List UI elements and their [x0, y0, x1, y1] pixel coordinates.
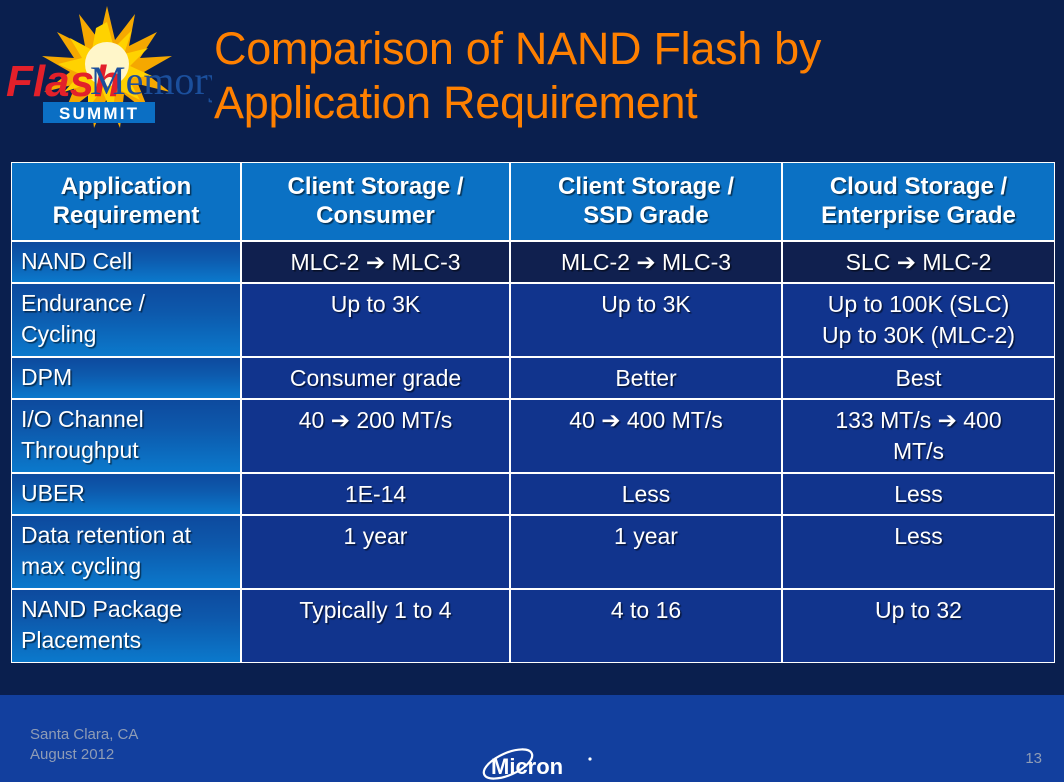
cell-line-1: Less: [787, 479, 1050, 510]
cell-line-1: Up to 32: [787, 595, 1050, 626]
row-label: Endurance / Cycling: [11, 283, 241, 357]
cell-consumer: Up to 3K: [241, 283, 510, 357]
table-header-client-ssd-grade: Client Storage / SSD Grade: [510, 162, 782, 241]
row-label: Data retention at max cycling: [11, 515, 241, 589]
cell-enterprise-grade: Up to 100K (SLC) Up to 30K (MLC-2): [782, 283, 1055, 357]
logo-artwork: Flash Memory SUMMIT: [2, 4, 212, 130]
row-label: NAND Cell: [11, 241, 241, 283]
cell-ssd-grade: Up to 3K: [510, 283, 782, 357]
cell-line-1: Up to 3K: [246, 289, 505, 320]
cell-consumer: 1 year: [241, 515, 510, 589]
row-label: DPM: [11, 357, 241, 399]
row-label-line-1: UBER: [21, 478, 240, 509]
table-header-cloud-enterprise-grade: Cloud Storage / Enterprise Grade: [782, 162, 1055, 241]
row-label-line-2: Cycling: [21, 319, 240, 350]
row-label-line-1: I/O Channel: [21, 404, 240, 435]
cell-enterprise-grade: SLC ➔ MLC-2: [782, 241, 1055, 283]
flash-memory-summit-logo: Flash Memory SUMMIT: [2, 4, 212, 130]
page-title-line-1: Comparison of NAND Flash by: [214, 22, 1034, 76]
micron-logo: Micron: [478, 748, 598, 782]
micron-logo-artwork: Micron: [478, 748, 598, 782]
cell-enterprise-grade: Up to 32: [782, 589, 1055, 663]
row-label-line-1: NAND Cell: [21, 246, 240, 277]
cell-ssd-grade: 40 ➔ 400 MT/s: [510, 399, 782, 473]
cell-line-1: Consumer grade: [246, 363, 505, 394]
footer-location: Santa Clara, CA: [30, 725, 138, 745]
header-line-1: Client Storage /: [517, 172, 775, 201]
header-line-2: Requirement: [18, 201, 234, 230]
cell-line-1: Typically 1 to 4: [246, 595, 505, 626]
cell-ssd-grade: Less: [510, 473, 782, 515]
cell-ssd-grade: 4 to 16: [510, 589, 782, 663]
cell-line-1: MLC-2 ➔ MLC-3: [246, 247, 505, 278]
table-header-row: Application Requirement Client Storage /…: [11, 162, 1055, 241]
table-row-data-retention: Data retention at max cycling 1 year 1 y…: [11, 515, 1055, 589]
cell-line-1: 1E-14: [246, 479, 505, 510]
cell-ssd-grade: 1 year: [510, 515, 782, 589]
table-row-nand-package-placements: NAND Package Placements Typically 1 to 4…: [11, 589, 1055, 663]
cell-line-1: 4 to 16: [515, 595, 777, 626]
table-row-uber: UBER 1E-14 Less Less: [11, 473, 1055, 515]
logo-memory-text: Memory: [90, 58, 212, 103]
page-title-line-2: Application Requirement: [214, 76, 1034, 130]
cell-line-1: Best: [787, 363, 1050, 394]
cell-consumer: 1E-14: [241, 473, 510, 515]
cell-line-2: Up to 30K (MLC-2): [787, 320, 1050, 351]
cell-enterprise-grade: Less: [782, 473, 1055, 515]
footer-location-block: Santa Clara, CA August 2012: [30, 725, 138, 765]
page-number: 13: [1025, 750, 1042, 767]
row-label-line-1: DPM: [21, 362, 240, 393]
row-label-line-1: Data retention at: [21, 520, 240, 551]
page-title: Comparison of NAND Flash by Application …: [214, 22, 1034, 130]
cell-line-1: Up to 100K (SLC): [787, 289, 1050, 320]
row-label-line-2: Placements: [21, 625, 240, 656]
slide-canvas: Flash Memory SUMMIT Comparison of NAND F…: [0, 0, 1064, 782]
cell-enterprise-grade: Less: [782, 515, 1055, 589]
header-line-1: Client Storage /: [248, 172, 503, 201]
cell-line-2: MT/s: [787, 436, 1050, 467]
cell-line-1: Up to 3K: [515, 289, 777, 320]
cell-line-1: Less: [515, 479, 777, 510]
cell-line-1: 40 ➔ 200 MT/s: [246, 405, 505, 436]
cell-consumer: 40 ➔ 200 MT/s: [241, 399, 510, 473]
micron-registered-mark: [588, 757, 591, 760]
cell-line-1: 1 year: [246, 521, 505, 552]
cell-enterprise-grade: Best: [782, 357, 1055, 399]
header-line-2: SSD Grade: [517, 201, 775, 230]
cell-consumer: Typically 1 to 4: [241, 589, 510, 663]
row-label-line-2: max cycling: [21, 551, 240, 582]
cell-enterprise-grade: 133 MT/s ➔ 400 MT/s: [782, 399, 1055, 473]
header-line-2: Consumer: [248, 201, 503, 230]
cell-line-1: Better: [515, 363, 777, 394]
row-label-line-1: Endurance /: [21, 288, 240, 319]
header-line-2: Enterprise Grade: [789, 201, 1048, 230]
cell-ssd-grade: Better: [510, 357, 782, 399]
cell-consumer: MLC-2 ➔ MLC-3: [241, 241, 510, 283]
row-label: I/O Channel Throughput: [11, 399, 241, 473]
row-label-line-1: NAND Package: [21, 594, 240, 625]
row-label: NAND Package Placements: [11, 589, 241, 663]
table-row-endurance-cycling: Endurance / Cycling Up to 3K Up to 3K Up…: [11, 283, 1055, 357]
header-line-1: Application: [18, 172, 234, 201]
table-row-nand-cell: NAND Cell MLC-2 ➔ MLC-3 MLC-2 ➔ MLC-3 SL…: [11, 241, 1055, 283]
cell-ssd-grade: MLC-2 ➔ MLC-3: [510, 241, 782, 283]
row-label: UBER: [11, 473, 241, 515]
table-header-application-requirement: Application Requirement: [11, 162, 241, 241]
header-line-1: Cloud Storage /: [789, 172, 1048, 201]
footer-date: August 2012: [30, 745, 138, 765]
micron-wordmark: Micron: [491, 754, 563, 779]
logo-summit-text: SUMMIT: [59, 104, 139, 123]
table-header-client-consumer: Client Storage / Consumer: [241, 162, 510, 241]
cell-consumer: Consumer grade: [241, 357, 510, 399]
cell-line-1: SLC ➔ MLC-2: [787, 247, 1050, 278]
cell-line-1: 1 year: [515, 521, 777, 552]
row-label-line-2: Throughput: [21, 435, 240, 466]
comparison-table-wrapper: Application Requirement Client Storage /…: [11, 162, 1055, 663]
table-row-dpm: DPM Consumer grade Better Best: [11, 357, 1055, 399]
cell-line-1: 40 ➔ 400 MT/s: [515, 405, 777, 436]
table-row-io-channel-throughput: I/O Channel Throughput 40 ➔ 200 MT/s 40 …: [11, 399, 1055, 473]
cell-line-1: Less: [787, 521, 1050, 552]
cell-line-1: 133 MT/s ➔ 400: [787, 405, 1050, 436]
comparison-table: Application Requirement Client Storage /…: [11, 162, 1055, 663]
cell-line-1: MLC-2 ➔ MLC-3: [515, 247, 777, 278]
